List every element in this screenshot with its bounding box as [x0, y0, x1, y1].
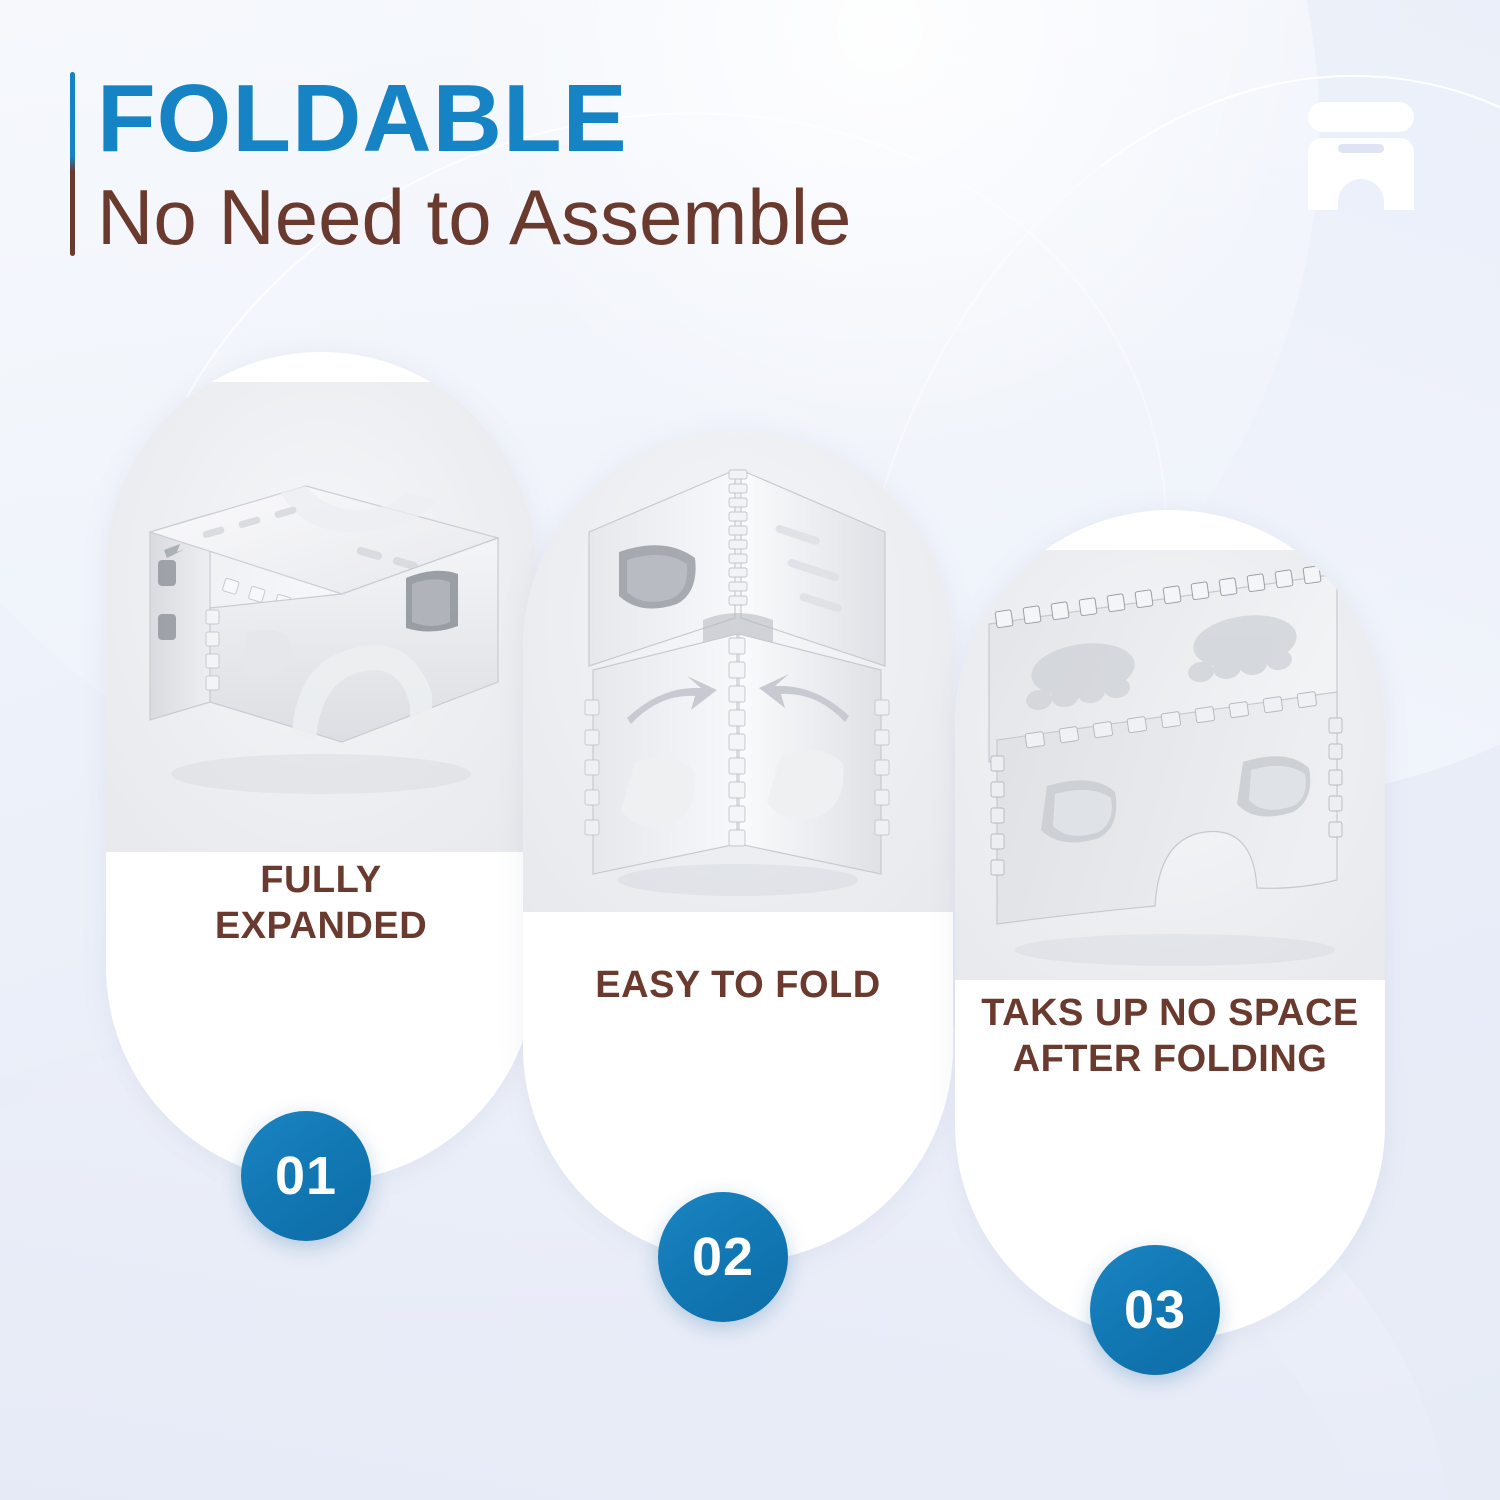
step-stool-folding-photo	[523, 432, 953, 912]
title-block: FOLDABLE No Need to Assemble	[97, 72, 851, 256]
step-number-badge-1: 01	[241, 1111, 371, 1241]
poster-header: FOLDABLE No Need to Assemble	[70, 72, 851, 256]
feature-caption-1: FULLY EXPANDED	[106, 857, 536, 950]
page-title: FOLDABLE	[97, 72, 851, 166]
step-stool-folded-flat-photo	[955, 550, 1385, 980]
title-accent-bar	[70, 72, 75, 256]
step-stool-logo-icon	[1300, 100, 1422, 212]
feature-card-2[interactable]: EASY TO FOLD	[523, 432, 953, 1262]
page-subtitle: No Need to Assemble	[97, 178, 851, 256]
step-number-badge-2: 02	[658, 1192, 788, 1322]
feature-caption-3: TAKS UP NO SPACE AFTER FOLDING	[955, 990, 1385, 1083]
feature-card-1[interactable]: FULLY EXPANDED	[106, 352, 536, 1182]
product-infographic-poster: FOLDABLE No Need to Assemble	[0, 0, 1500, 1500]
step-number-badge-3: 03	[1090, 1245, 1220, 1375]
step-stool-expanded-photo	[106, 382, 536, 852]
feature-caption-2: EASY TO FOLD	[523, 962, 953, 1008]
feature-card-3[interactable]: TAKS UP NO SPACE AFTER FOLDING	[955, 510, 1385, 1340]
